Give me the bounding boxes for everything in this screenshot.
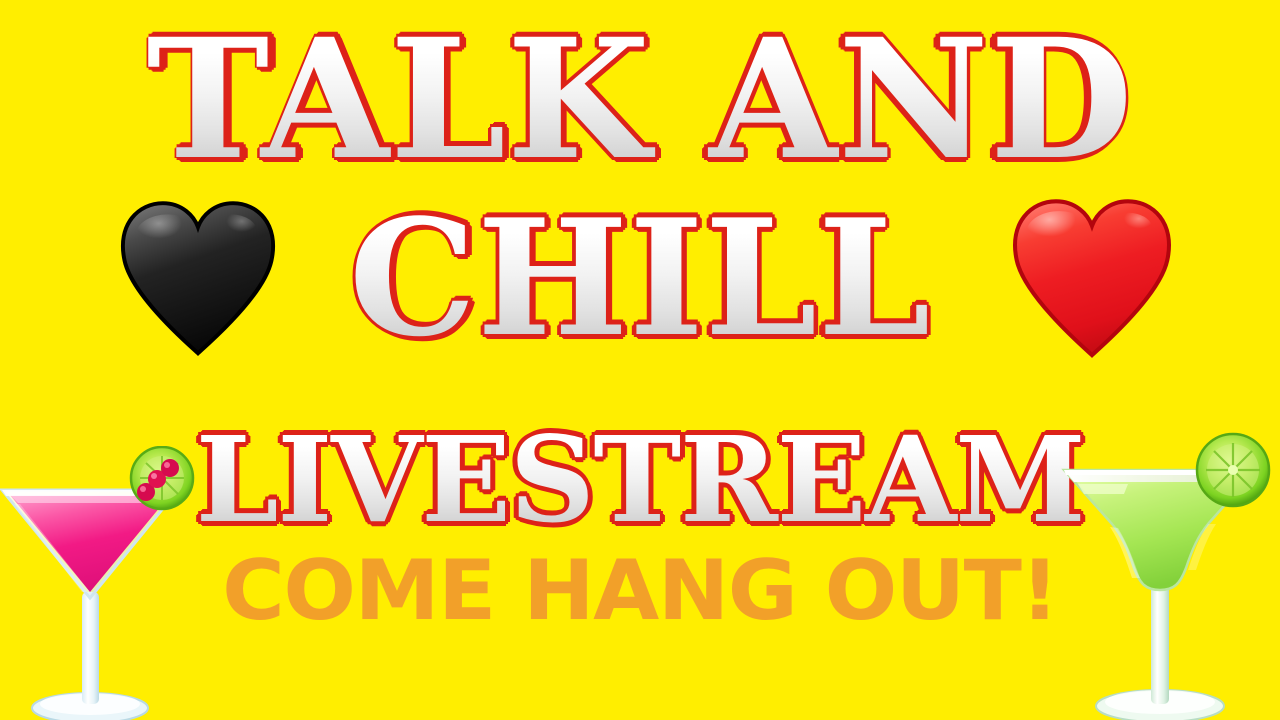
thumbnail-canvas: TALK AND TALK AND CHILL CHILL LIVESTREAM… bbox=[0, 0, 1280, 720]
green-margarita-icon bbox=[1058, 432, 1280, 720]
red-heart-icon bbox=[1008, 198, 1176, 360]
headline-talk-and-fill: TALK AND bbox=[0, 17, 1280, 182]
headline-line-talk-and: TALK AND TALK AND bbox=[0, 17, 1280, 177]
black-heart-icon bbox=[118, 200, 278, 358]
pink-cocktail-icon bbox=[0, 446, 206, 720]
